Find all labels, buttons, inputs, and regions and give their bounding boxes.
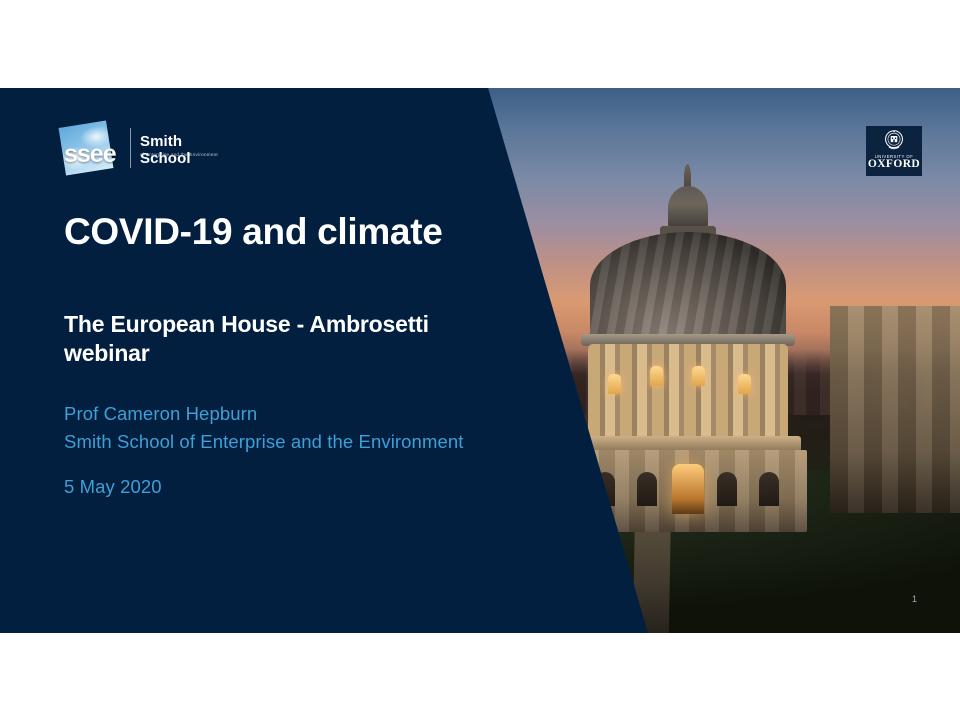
ssee-logo[interactable]: ssee Smith School of Enterprise and the …: [62, 124, 232, 176]
adjacent-college-building: [830, 306, 960, 513]
speaker-affiliation: Smith School of Enterprise and the Envir…: [64, 428, 463, 456]
logo-divider: [130, 128, 131, 168]
page-number: 1: [912, 594, 917, 604]
ssee-wordmark: ssee: [64, 140, 116, 169]
slide-title: COVID-19 and climate: [64, 212, 443, 253]
lit-window: [608, 374, 621, 394]
dome-cupola: [668, 186, 708, 230]
oxford-logo[interactable]: UNIVERSITY OF OXFORD: [866, 126, 922, 176]
oxford-wordmark: OXFORD: [868, 159, 920, 171]
smith-school-tagline: of Enterprise and the Environment: [140, 152, 218, 157]
base-arch: [637, 472, 657, 506]
ribbed-dome: [590, 232, 786, 340]
speaker-block: Prof Cameron Hepburn Smith School of Ent…: [64, 400, 463, 456]
title-slide: ssee Smith School of Enterprise and the …: [0, 88, 960, 633]
illuminated-entrance: [672, 464, 704, 514]
lit-window: [692, 366, 705, 386]
lit-window: [650, 366, 663, 386]
presentation-canvas: ssee Smith School of Enterprise and the …: [0, 0, 960, 720]
smith-school-name: Smith School: [140, 133, 232, 167]
lit-window: [738, 374, 751, 394]
speaker-name: Prof Cameron Hepburn: [64, 403, 257, 424]
slide-subtitle: The European House - Ambrosetti webinar: [64, 310, 494, 368]
base-arch: [759, 472, 779, 506]
base-arch: [717, 472, 737, 506]
columned-drum: [588, 344, 788, 440]
oxford-crest-icon: [883, 129, 905, 153]
slide-date: 5 May 2020: [64, 476, 162, 498]
